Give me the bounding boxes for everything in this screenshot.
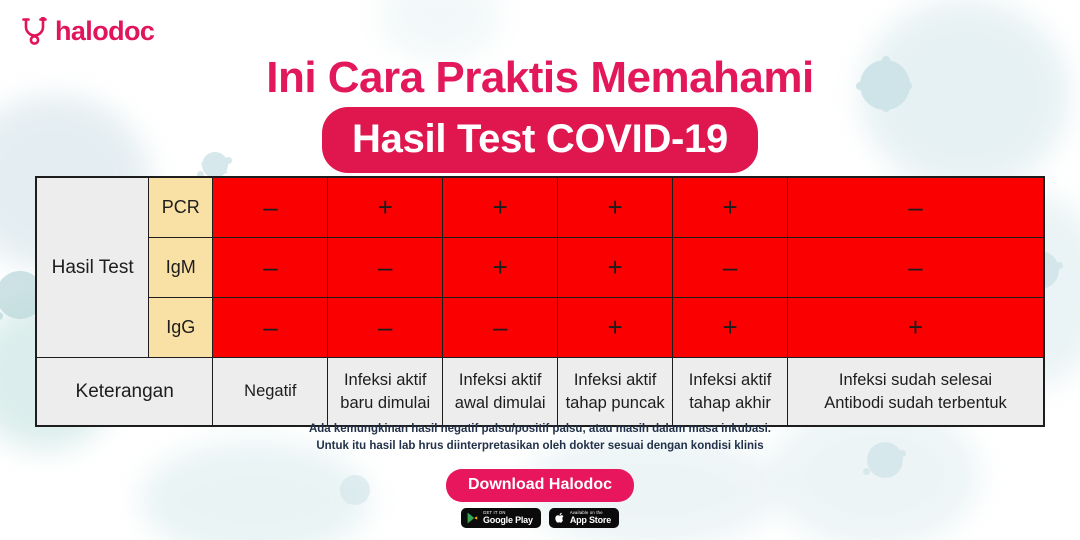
headline-line-1: Ini Cara Praktis Memahami (0, 55, 1080, 101)
download-halodoc-button[interactable]: Download Halodoc (446, 469, 634, 502)
disclaimer-line-2: Untuk itu hasil lab hrus diinterpretasik… (0, 438, 1080, 455)
bg-blob (380, 0, 500, 60)
table-row: Hasil Test PCR – + + + + – (36, 177, 1044, 238)
note-c6-line1: Infeksi sudah selesai (792, 369, 1039, 391)
cell-igm-c6: – (788, 238, 1044, 298)
note-c1-line1: Negatif (217, 380, 323, 402)
cell-igg-c4: + (558, 298, 673, 358)
cell-pcr-c4: + (558, 177, 673, 238)
note-c6-line2: Antibodi sudah terbentuk (792, 392, 1039, 414)
cell-igm-c3: + (443, 238, 558, 298)
cell-pcr-c2: + (328, 177, 443, 238)
cell-igm-c4: + (558, 238, 673, 298)
note-c4: Infeksi aktif tahap puncak (558, 358, 673, 427)
row-header-hasil-test: Hasil Test (36, 177, 149, 358)
cell-pcr-c5: + (673, 177, 788, 238)
cell-igg-c1: – (213, 298, 328, 358)
cell-igg-c2: – (328, 298, 443, 358)
disclaimer-block: Ada kemungkinan hasil negatif palsu/posi… (0, 421, 1080, 456)
cell-igm-c5: – (673, 238, 788, 298)
note-c5: Infeksi aktif tahap akhir (673, 358, 788, 427)
note-c3-line1: Infeksi aktif (447, 369, 553, 391)
headline-line-2-pill: Hasil Test COVID-19 (322, 107, 758, 173)
cell-pcr-c1: – (213, 177, 328, 238)
note-c1: Negatif (213, 358, 328, 427)
table-row: IgG – – – + + + (36, 298, 1044, 358)
cell-pcr-c3: + (443, 177, 558, 238)
disclaimer-line-1: Ada kemungkinan hasil negatif palsu/posi… (0, 421, 1080, 438)
stethoscope-icon (22, 17, 48, 45)
cta-block: Download Halodoc (0, 469, 1080, 502)
note-c4-line2: tahap puncak (562, 392, 668, 414)
halodoc-logo[interactable]: halodoc (22, 17, 154, 45)
table-row-keterangan: Keterangan Negatif Infeksi aktif baru di… (36, 358, 1044, 427)
test-name-pcr: PCR (149, 177, 213, 238)
app-store-badge[interactable]: Available on the App Store (549, 508, 619, 528)
note-c2: Infeksi aktif baru dimulai (328, 358, 443, 427)
test-name-igm: IgM (149, 238, 213, 298)
row-header-keterangan: Keterangan (36, 358, 213, 427)
cell-pcr-c6: – (788, 177, 1044, 238)
note-c2-line1: Infeksi aktif (332, 369, 438, 391)
cell-igg-c5: + (673, 298, 788, 358)
headline-block: Ini Cara Praktis Memahami Hasil Test COV… (0, 55, 1080, 173)
note-c6: Infeksi sudah selesai Antibodi sudah ter… (788, 358, 1044, 427)
note-c4-line1: Infeksi aktif (562, 369, 668, 391)
test-result-table: Hasil Test PCR – + + + + – IgM – – + + –… (35, 176, 1045, 427)
cell-igg-c6: + (788, 298, 1044, 358)
cell-igm-c2: – (328, 238, 443, 298)
store-badges: GET IT ON Google Play Available on the A… (0, 508, 1080, 528)
note-c5-line2: tahap akhir (677, 392, 783, 414)
apple-icon (555, 512, 565, 524)
note-c5-line1: Infeksi aktif (677, 369, 783, 391)
note-c2-line2: baru dimulai (332, 392, 438, 414)
note-c3-line2: awal dimulai (447, 392, 553, 414)
logo-wordmark: halodoc (55, 18, 154, 45)
table-row: IgM – – + + – – (36, 238, 1044, 298)
cell-igm-c1: – (213, 238, 328, 298)
app-store-badge-big: App Store (570, 516, 611, 525)
note-c3: Infeksi aktif awal dimulai (443, 358, 558, 427)
google-play-icon (467, 512, 478, 524)
google-play-badge[interactable]: GET IT ON Google Play (461, 508, 541, 528)
test-name-igg: IgG (149, 298, 213, 358)
cell-igg-c3: – (443, 298, 558, 358)
google-play-badge-big: Google Play (483, 516, 533, 525)
